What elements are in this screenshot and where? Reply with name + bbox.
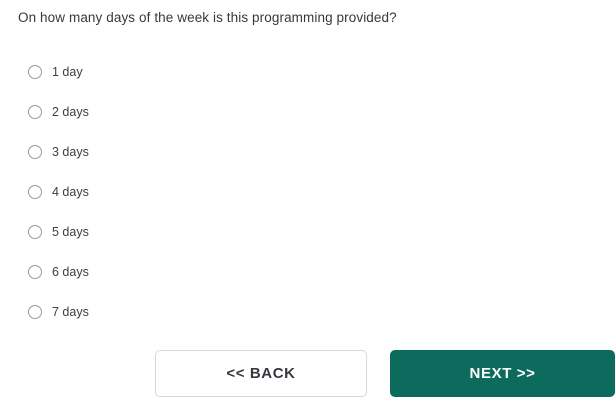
radio-button-7-days[interactable] xyxy=(28,305,42,319)
option-row-4-days[interactable]: 4 days xyxy=(28,182,328,202)
option-label-4-days: 4 days xyxy=(52,184,89,200)
survey-question-page: On how many days of the week is this pro… xyxy=(0,0,615,420)
option-row-6-days[interactable]: 6 days xyxy=(28,262,328,282)
question-title: On how many days of the week is this pro… xyxy=(18,8,397,28)
radio-button-3-days[interactable] xyxy=(28,145,42,159)
back-button[interactable]: << BACK xyxy=(155,350,367,397)
option-label-7-days: 7 days xyxy=(52,304,89,320)
option-row-1-day[interactable]: 1 day xyxy=(28,62,328,82)
option-label-1-day: 1 day xyxy=(52,64,83,80)
option-label-2-days: 2 days xyxy=(52,104,89,120)
option-label-5-days: 5 days xyxy=(52,224,89,240)
option-row-2-days[interactable]: 2 days xyxy=(28,102,328,122)
option-row-5-days[interactable]: 5 days xyxy=(28,222,328,242)
radio-button-5-days[interactable] xyxy=(28,225,42,239)
radio-button-6-days[interactable] xyxy=(28,265,42,279)
option-row-3-days[interactable]: 3 days xyxy=(28,142,328,162)
radio-button-1-day[interactable] xyxy=(28,65,42,79)
option-label-3-days: 3 days xyxy=(52,144,89,160)
next-button[interactable]: NEXT >> xyxy=(390,350,615,397)
radio-button-2-days[interactable] xyxy=(28,105,42,119)
option-row-7-days[interactable]: 7 days xyxy=(28,302,328,322)
answer-options-group: 1 day 2 days 3 days 4 days 5 days 6 days… xyxy=(28,62,328,342)
navigation-bar: << BACK NEXT >> xyxy=(0,350,615,398)
radio-button-4-days[interactable] xyxy=(28,185,42,199)
option-label-6-days: 6 days xyxy=(52,264,89,280)
